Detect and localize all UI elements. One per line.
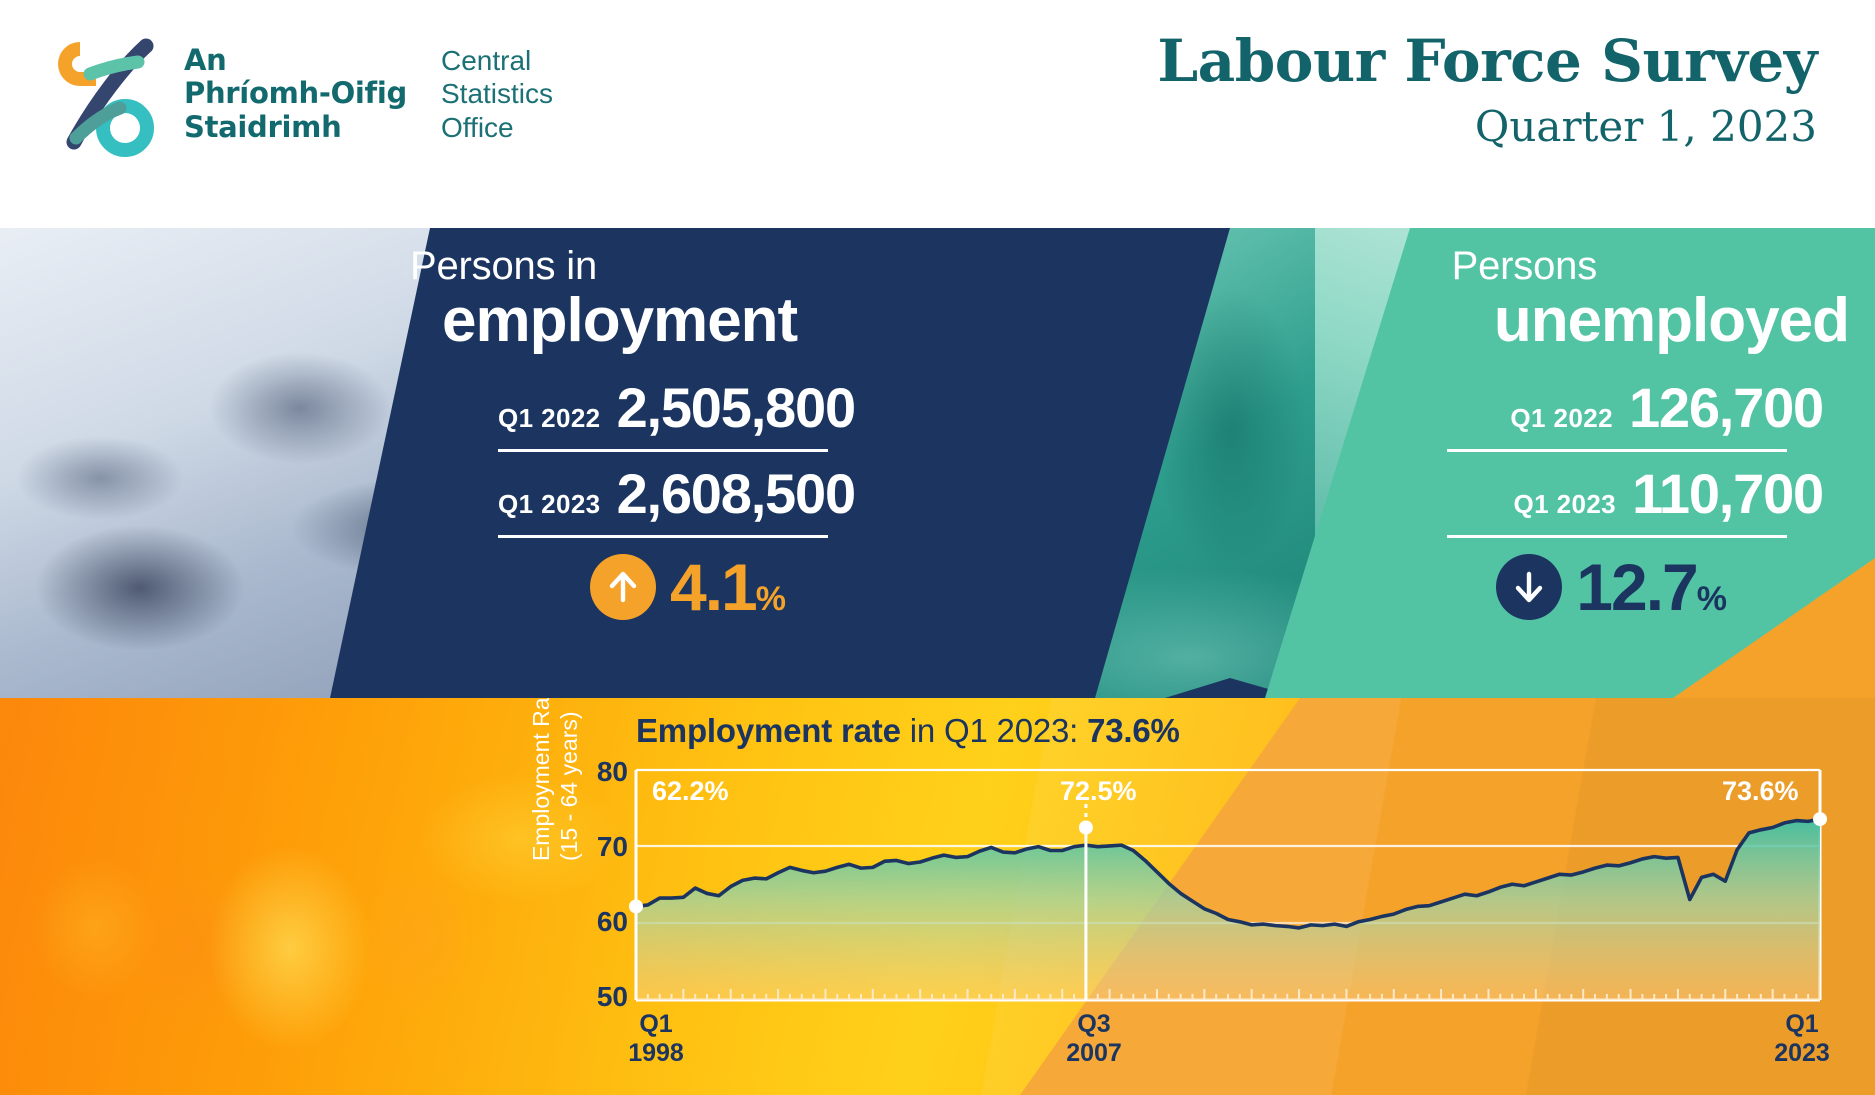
employment-row-2022: Q1 2022 2,505,800 [380,375,920,440]
logo-irish-line-2: Phríomh-Oifig [184,77,407,110]
x-tick-q1-2023-line1: Q1 [1752,1010,1852,1039]
x-tick-q3-2007-line2: 2007 [1044,1039,1144,1068]
unemployment-row-2023: Q1 2023 110,700 [1237,461,1857,526]
infographic-root: An Phríomh-Oifig Staidrimh Central Stati… [0,0,1875,1095]
employment-row-2023: Q1 2023 2,608,500 [380,461,920,526]
logo-english-line-3: Office [441,111,553,145]
employment-rate-chart [0,698,1875,1095]
x-tick-q1-1998-line2: 1998 [606,1039,706,1068]
logo-english-line-1: Central [441,44,553,78]
employment-change-value: 4.1% [670,554,786,620]
employment-stat-block: Persons in employment Q1 2022 2,505,800 … [380,246,920,620]
employment-divider-2 [498,535,828,538]
page-title: Labour Force Survey [1157,32,1817,90]
unemployment-divider-2 [1447,535,1787,538]
unemployment-divider-1 [1447,449,1787,452]
employment-change-number: 4.1 [670,550,756,624]
logo-irish-line-3: Staidrimh [184,111,407,144]
unemployment-headline: unemployed [1237,288,1857,353]
x-tick-q3-2007: Q3 2007 [1044,1010,1144,1068]
logo-irish-line-1: An [184,44,407,77]
unemployment-change-number: 12.7 [1576,550,1696,624]
chart-band: Employment rate in Q1 2023: 73.6% Employ… [0,698,1875,1095]
x-tick-q1-2023-line2: 2023 [1752,1039,1852,1068]
annotation-73-6: 73.6% [1722,776,1799,807]
logo-irish-name: An Phríomh-Oifig Staidrimh [184,44,407,143]
logo-english-line-2: Statistics [441,77,553,111]
unemployment-row-2022-label: Q1 2022 [1510,403,1613,434]
annotation-72-5: 72.5% [1060,776,1137,807]
x-tick-q1-1998: Q1 1998 [606,1010,706,1068]
arrow-up-icon [590,554,656,620]
employment-row-2022-value: 2,505,800 [617,375,855,440]
employment-change: 4.1% [380,554,920,620]
page-subtitle: Quarter 1, 2023 [1157,104,1817,150]
employment-change-unit: % [756,580,786,618]
employment-row-2022-label: Q1 2022 [498,403,601,434]
x-tick-q1-1998-line1: Q1 [606,1010,706,1039]
annotation-62-2: 62.2% [652,776,729,807]
cso-logo-mark [50,30,168,158]
unemployment-row-2023-value: 110,700 [1632,461,1823,526]
x-tick-q3-2007-line1: Q3 [1044,1010,1144,1039]
logo-english-name: Central Statistics Office [441,44,553,145]
arrow-down-icon [1496,554,1562,620]
unemployment-change-unit: % [1697,580,1727,618]
cso-logo: An Phríomh-Oifig Staidrimh Central Stati… [50,30,553,158]
unemployment-change: 12.7% [1237,554,1857,620]
header: An Phríomh-Oifig Staidrimh Central Stati… [0,0,1875,228]
unemployment-stat-block: Persons unemployed Q1 2022 126,700 Q1 20… [1237,246,1857,620]
employment-row-2023-value: 2,608,500 [617,461,855,526]
employment-kicker: Persons in [380,246,920,286]
employment-headline: employment [380,288,920,353]
unemployment-row-2022: Q1 2022 126,700 [1237,375,1857,440]
x-tick-q1-2023: Q1 2023 [1752,1010,1852,1068]
unemployment-kicker: Persons [1237,246,1857,286]
employment-divider-1 [498,449,828,452]
unemployment-row-2022-value: 126,700 [1629,375,1823,440]
unemployment-change-value: 12.7% [1576,554,1727,620]
title-block: Labour Force Survey Quarter 1, 2023 [1157,32,1817,150]
unemployment-row-2023-label: Q1 2023 [1514,489,1617,520]
stats-band: Persons in employment Q1 2022 2,505,800 … [0,228,1875,698]
employment-row-2023-label: Q1 2023 [498,489,601,520]
